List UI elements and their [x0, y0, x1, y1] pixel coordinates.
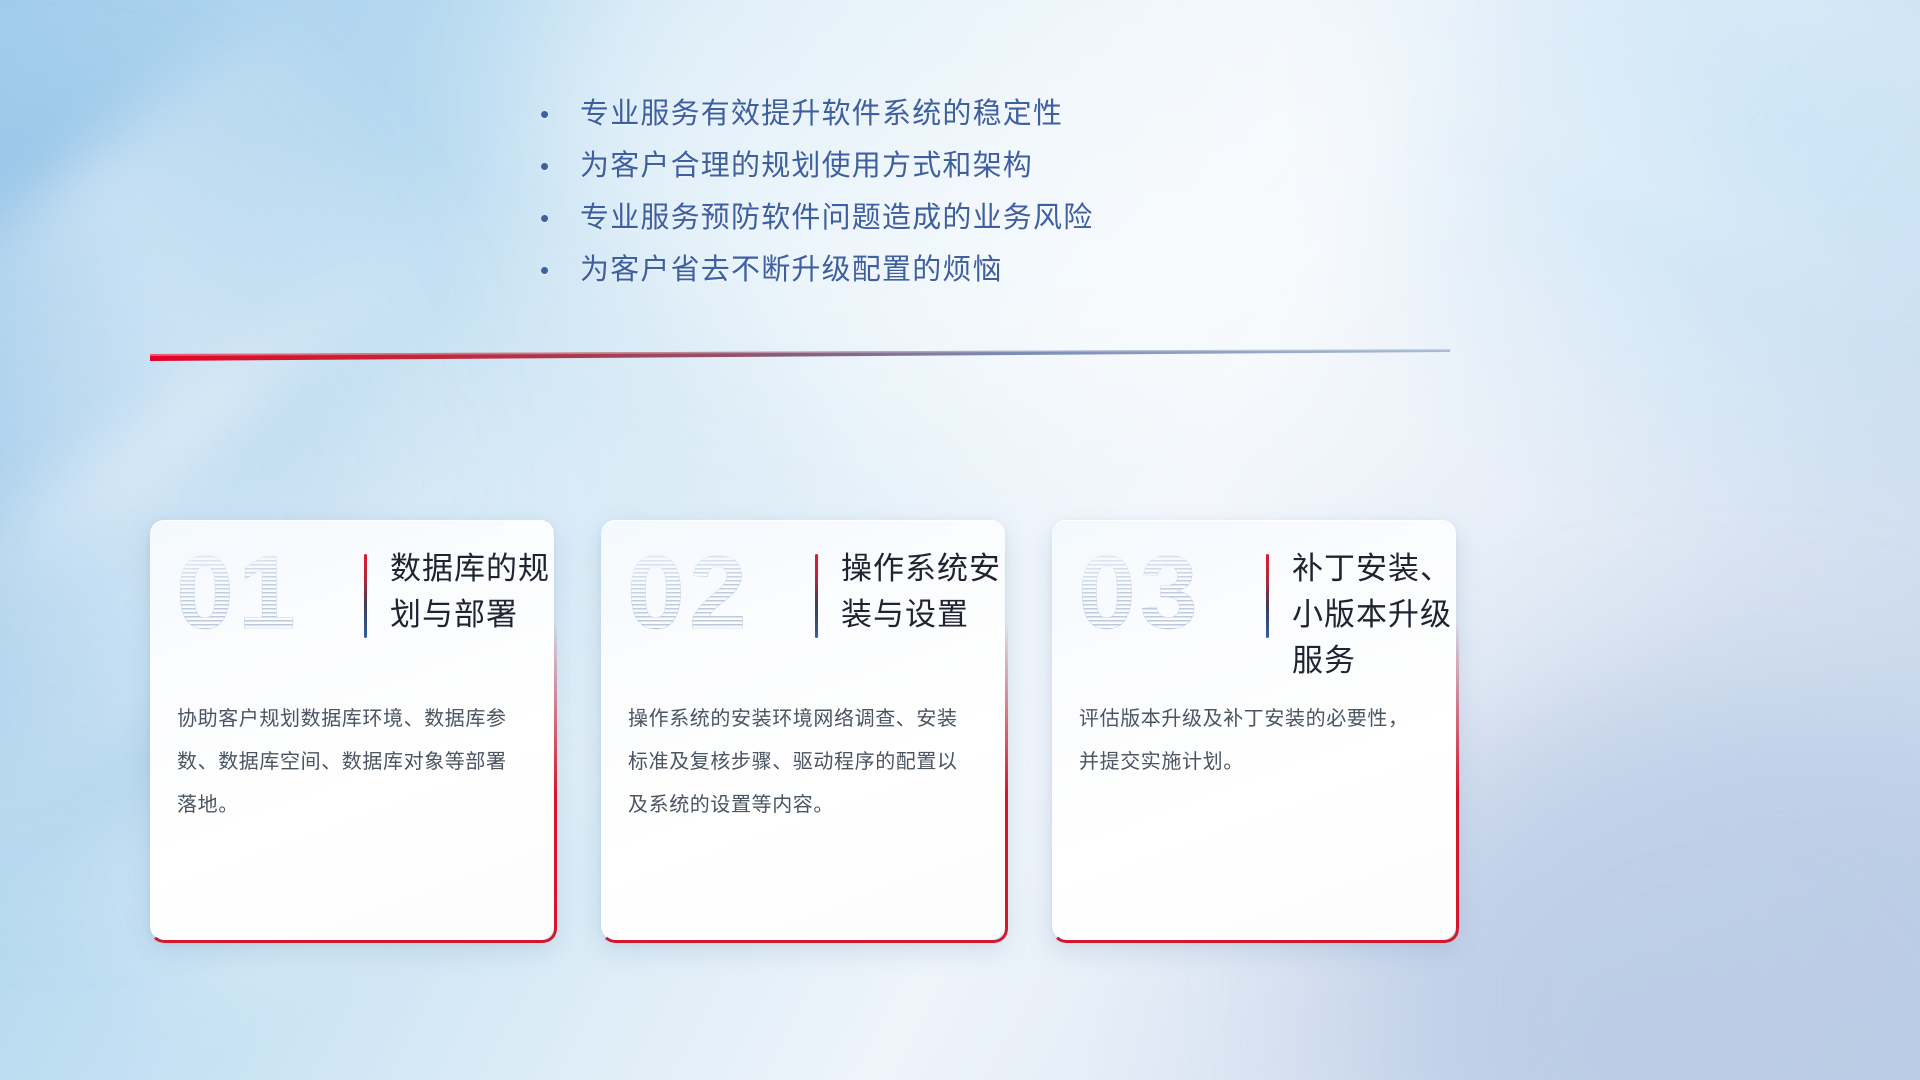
benefits-bullet-list: • 专业服务有效提升软件系统的稳定性 • 为客户合理的规划使用方式和架构 • 专… [540, 88, 1440, 296]
service-card[interactable]: 03 03 补丁安装、小版本升级服务 评估版本升级及补丁安装的必要性，并提交实施… [1052, 520, 1456, 940]
card-accent-bar [364, 554, 367, 638]
card-description: 操作系统的安装环境网络调查、安装标准及复核步骤、驱动程序的配置以及系统的设置等内… [628, 698, 978, 827]
card-header: 01 01 数据库的规划与部署 [150, 520, 554, 664]
bullet-marker-icon: • [540, 244, 580, 296]
bullet-marker-icon: • [540, 88, 580, 140]
svg-text:03: 03 [1078, 544, 1202, 648]
card-title: 补丁安装、小版本升级服务 [1292, 546, 1452, 684]
svg-text:02: 02 [627, 544, 751, 648]
card-accent-bar [815, 554, 818, 638]
svg-text:01: 01 [176, 544, 300, 648]
card-header: 02 02 操作系统安装与设置 [601, 520, 1005, 664]
svg-text:03: 03 [1078, 544, 1202, 648]
tapered-rule-icon [150, 340, 1450, 366]
section-divider [150, 340, 1450, 366]
card-header: 03 03 补丁安装、小版本升级服务 [1052, 520, 1456, 664]
bullet-text: 为客户合理的规划使用方式和架构 [580, 140, 1440, 192]
ghost-number-03-icon: 03 03 [1078, 544, 1268, 648]
svg-text:02: 02 [627, 544, 751, 648]
bullet-item: • 专业服务有效提升软件系统的稳定性 [540, 88, 1440, 140]
bullet-marker-icon: • [540, 140, 580, 192]
bullet-item: • 为客户省去不断升级配置的烦恼 [540, 244, 1440, 296]
slide-canvas: • 专业服务有效提升软件系统的稳定性 • 为客户合理的规划使用方式和架构 • 专… [0, 0, 1920, 1080]
card-accent-bar [1266, 554, 1269, 638]
ghost-number-02-icon: 02 02 [627, 544, 817, 648]
card-title: 数据库的规划与部署 [390, 546, 550, 638]
bullet-marker-icon: • [540, 192, 580, 244]
bullet-text: 专业服务预防软件问题造成的业务风险 [580, 192, 1440, 244]
ghost-number-01-icon: 01 01 [176, 544, 366, 648]
card-description: 协助客户规划数据库环境、数据库参数、数据库空间、数据库对象等部署落地。 [177, 698, 527, 827]
background-light-streak [0, 0, 473, 581]
service-card[interactable]: 01 01 数据库的规划与部署 协助客户规划数据库环境、数据库参数、数据库空间、… [150, 520, 554, 940]
service-card-list: 01 01 数据库的规划与部署 协助客户规划数据库环境、数据库参数、数据库空间、… [150, 520, 1770, 940]
background-light-streak [1387, 0, 1920, 365]
card-title: 操作系统安装与设置 [841, 546, 1001, 638]
bullet-text: 专业服务有效提升软件系统的稳定性 [580, 88, 1440, 140]
card-description: 评估版本升级及补丁安装的必要性，并提交实施计划。 [1079, 698, 1429, 784]
service-card[interactable]: 02 02 操作系统安装与设置 操作系统的安装环境网络调查、安装标准及复核步骤、… [601, 520, 1005, 940]
bullet-text: 为客户省去不断升级配置的烦恼 [580, 244, 1440, 296]
bullet-item: • 专业服务预防软件问题造成的业务风险 [540, 192, 1440, 244]
bullet-item: • 为客户合理的规划使用方式和架构 [540, 140, 1440, 192]
svg-text:01: 01 [176, 544, 300, 648]
